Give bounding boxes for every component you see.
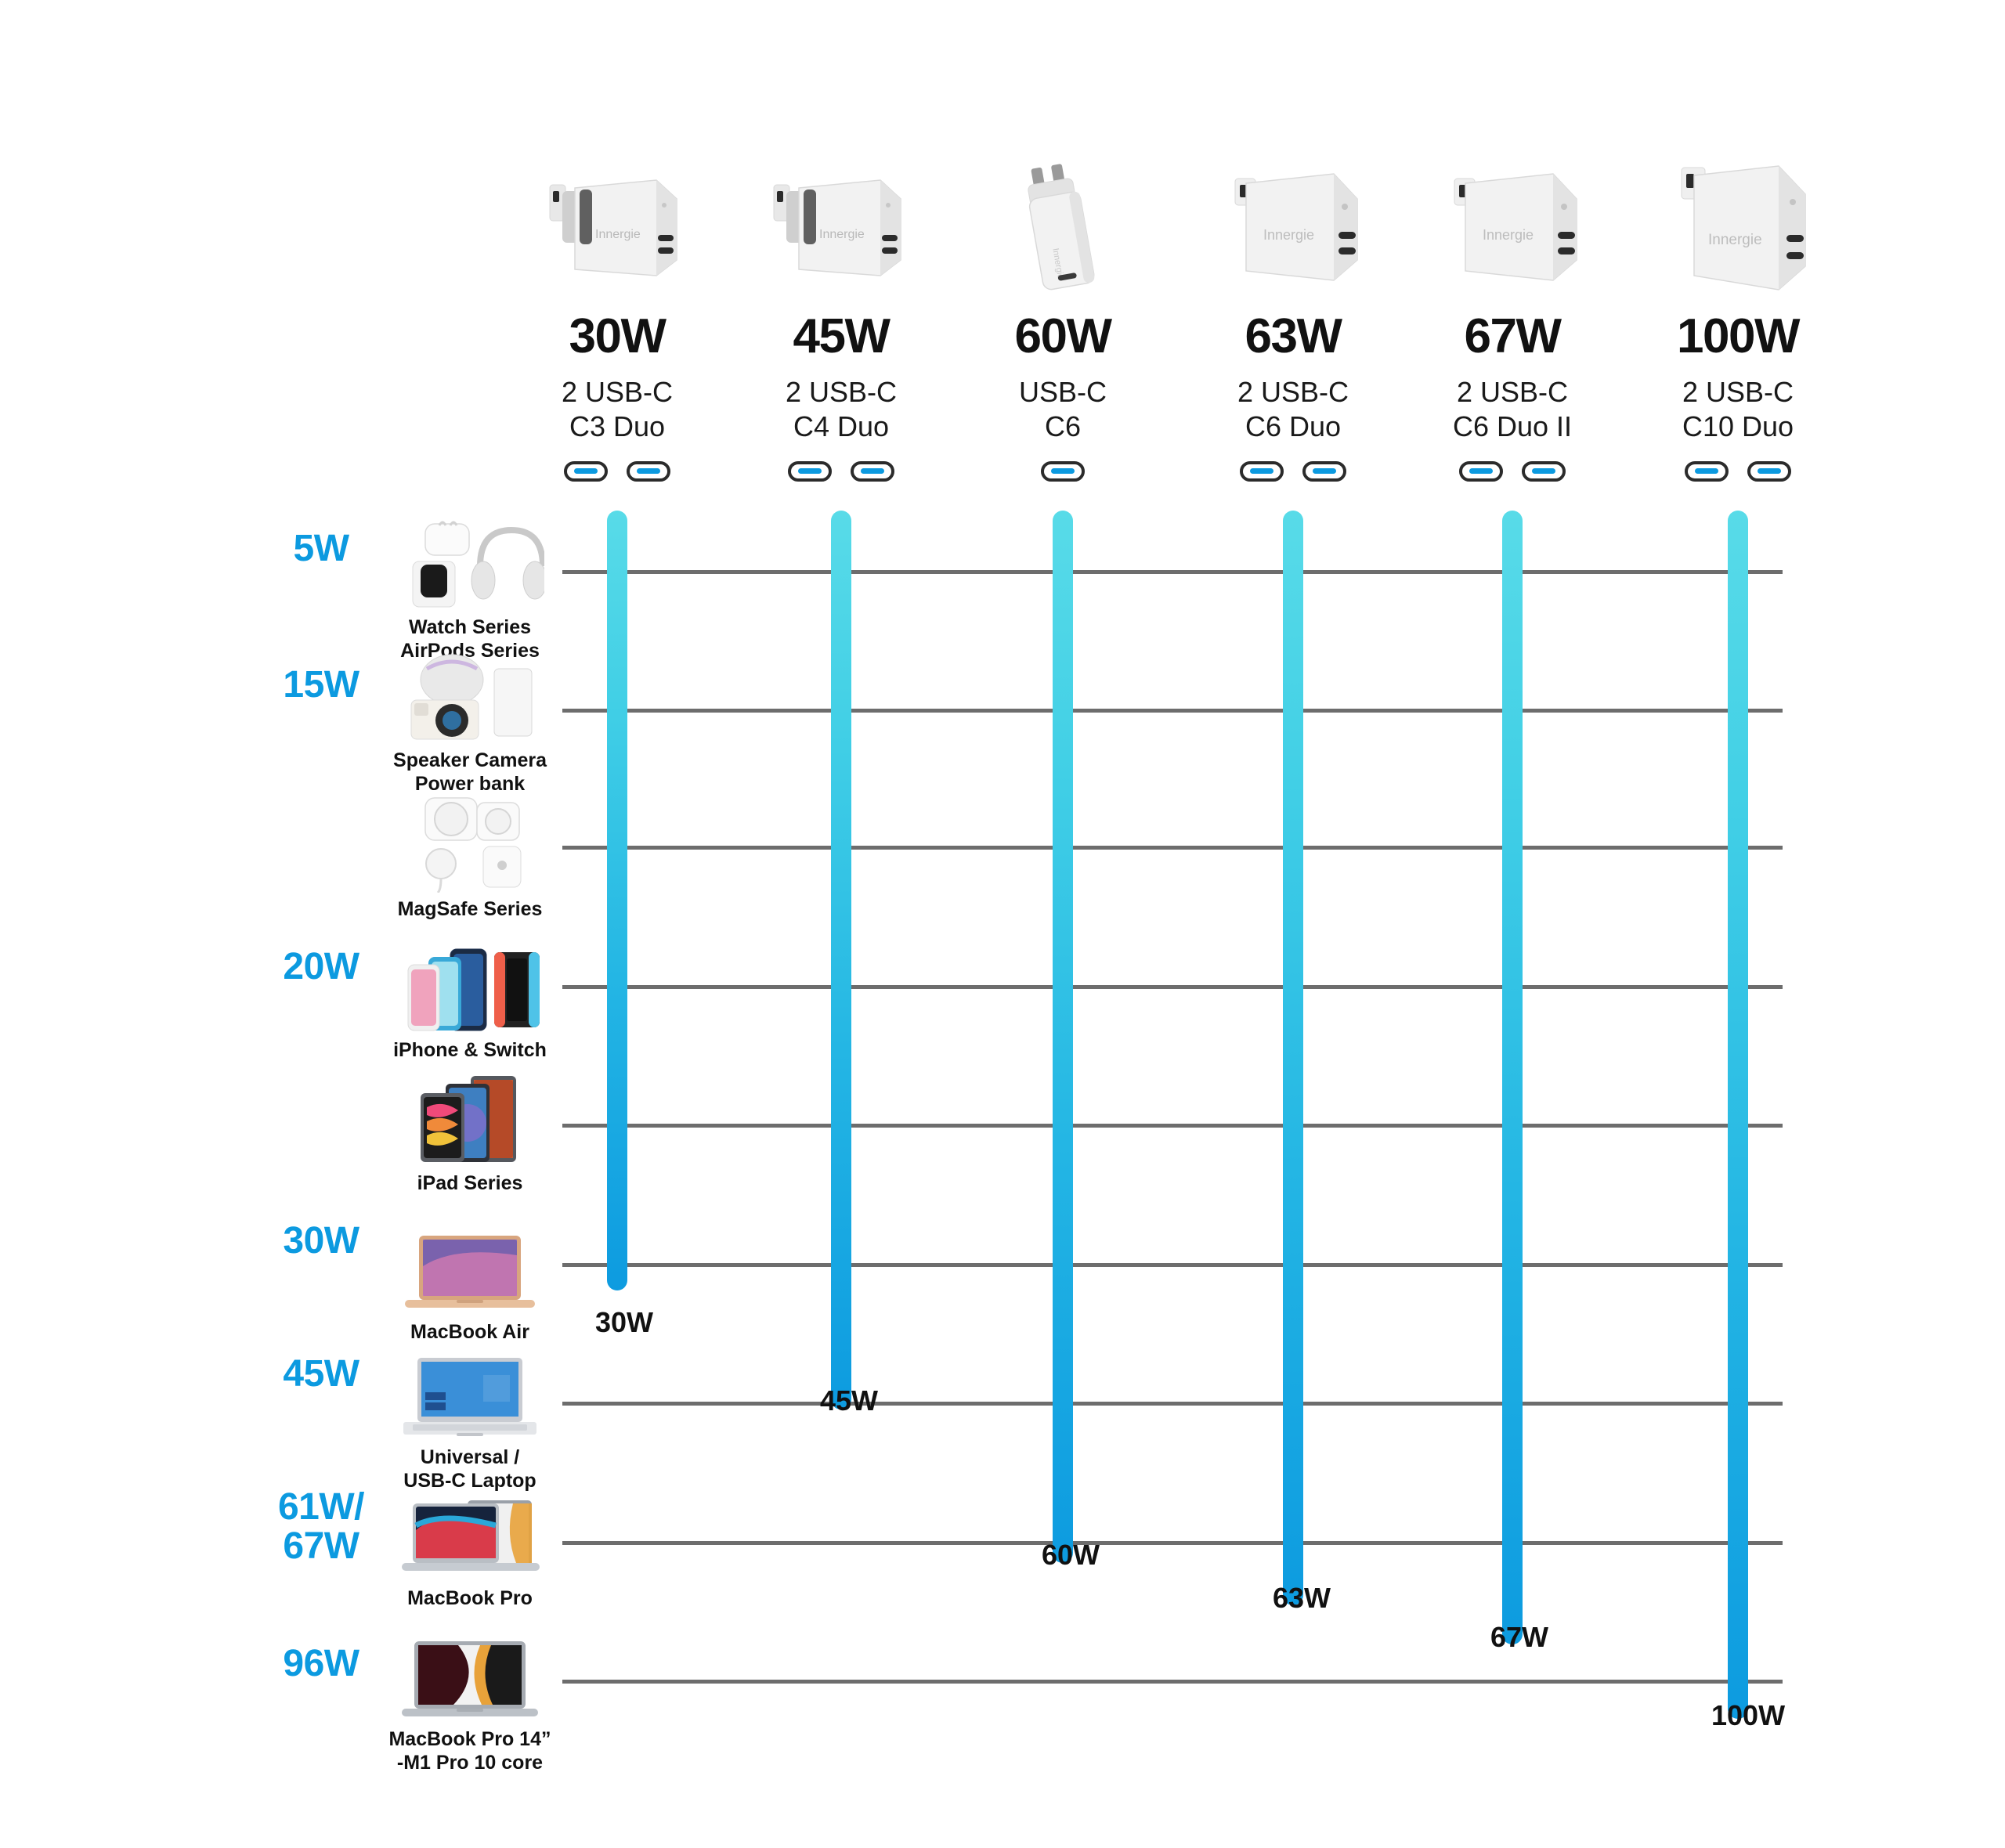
usb-c-port-icon xyxy=(1302,461,1346,482)
charger-port-icons xyxy=(1176,461,1411,482)
charger-c6-duo-ii-icon: Innergie xyxy=(1395,153,1630,301)
power-bar xyxy=(1728,511,1748,1719)
device-row: Watch Series AirPods Series xyxy=(368,517,572,662)
usb-c-port-icon xyxy=(851,461,894,482)
device-label: Speaker Camera Power bank xyxy=(368,749,572,796)
gridline xyxy=(562,1541,1783,1545)
usb-c-port-icon xyxy=(1522,461,1566,482)
device-row: MacBook Air xyxy=(368,1222,572,1344)
gridline xyxy=(562,709,1783,713)
charger-model: C6 Duo xyxy=(1176,410,1411,444)
usb-c-port-icon xyxy=(1459,461,1503,482)
charger-column-c3-duo[interactable]: Innergie 30W 2 USB-C C3 Duo xyxy=(500,153,735,482)
gridline xyxy=(562,1402,1783,1406)
gridline xyxy=(562,985,1783,989)
charger-model: C4 Duo xyxy=(724,410,959,444)
device-label: MacBook Air xyxy=(368,1320,572,1344)
charger-column-c10-duo[interactable]: Innergie 100W 2 USB-C C10 Duo xyxy=(1620,153,1855,482)
macbook-pro-14-icon xyxy=(368,1629,572,1723)
device-label: iPad Series xyxy=(368,1171,572,1195)
bar-value-label: 100W xyxy=(1711,1699,1785,1732)
bar-value-label: 67W xyxy=(1490,1621,1548,1654)
bar-value-label: 30W xyxy=(595,1306,653,1339)
watch-airpods-icon xyxy=(368,517,572,611)
usb-c-port-icon xyxy=(1747,461,1791,482)
gridline xyxy=(562,1263,1783,1267)
usb-c-port-icon xyxy=(788,461,832,482)
charger-column-c6-duo[interactable]: Innergie 63W 2 USB-C C6 Duo xyxy=(1176,153,1411,482)
usb-c-port-icon xyxy=(564,461,608,482)
charger-wattage: 63W xyxy=(1176,312,1411,361)
charger-c6-duo-icon: Innergie xyxy=(1176,153,1411,301)
gridline xyxy=(562,1124,1783,1128)
usb-c-port-icon xyxy=(1041,461,1085,482)
charger-c3-duo-icon: Innergie xyxy=(500,153,735,301)
device-label: MacBook Pro 14” -M1 Pro 10 core xyxy=(368,1727,572,1774)
device-row: iPad Series xyxy=(368,1073,572,1195)
device-label: MagSafe Series xyxy=(368,897,572,921)
device-row: MagSafe Series xyxy=(368,799,572,921)
charger-c4-duo-icon: Innergie xyxy=(724,153,959,301)
device-row: MacBook Pro xyxy=(368,1488,572,1610)
device-label: iPhone & Switch xyxy=(368,1038,572,1062)
charger-port-count: USB-C xyxy=(945,375,1180,410)
charger-model: C10 Duo xyxy=(1620,410,1855,444)
svg-text:Innergie: Innergie xyxy=(595,228,641,241)
gridline xyxy=(562,570,1783,574)
device-row: Speaker Camera Power bank xyxy=(368,650,572,796)
charger-port-icons xyxy=(1395,461,1630,482)
iphone-switch-icon xyxy=(368,940,572,1034)
bar-value-label: 60W xyxy=(1042,1539,1100,1572)
charger-port-icons xyxy=(724,461,959,482)
gridline xyxy=(562,1680,1783,1684)
charger-port-icons xyxy=(945,461,1180,482)
usb-c-port-icon xyxy=(627,461,670,482)
power-bar xyxy=(831,511,851,1409)
charger-c6-icon: Innergie xyxy=(945,153,1180,301)
charger-c10-duo-icon: Innergie xyxy=(1620,153,1855,301)
device-label: Universal / USB-C Laptop xyxy=(368,1446,572,1492)
charger-wattage: 100W xyxy=(1620,312,1855,361)
charger-wattage: 30W xyxy=(500,312,735,361)
usb-c-port-icon xyxy=(1240,461,1284,482)
power-comparison-chart: Innergie 30W 2 USB-C C3 Duo Innergie 45W… xyxy=(0,0,2005,1848)
ipad-icon xyxy=(368,1073,572,1167)
charger-port-count: 2 USB-C xyxy=(1176,375,1411,410)
macbook-pro-icon xyxy=(368,1488,572,1582)
charger-port-count: 2 USB-C xyxy=(500,375,735,410)
charger-port-icons xyxy=(1620,461,1855,482)
device-row: iPhone & Switch xyxy=(368,940,572,1062)
macbook-air-icon xyxy=(368,1222,572,1316)
usbc-laptop-icon xyxy=(368,1347,572,1441)
power-bar xyxy=(607,511,627,1290)
charger-model: C6 xyxy=(945,410,1180,444)
speaker-camera-powerbank-icon xyxy=(368,650,572,744)
charger-model: C3 Duo xyxy=(500,410,735,444)
bar-value-label: 45W xyxy=(820,1384,878,1417)
charger-column-c6[interactable]: Innergie 60W USB-C C6 xyxy=(945,153,1180,482)
charger-wattage: 67W xyxy=(1395,312,1630,361)
charger-model: C6 Duo II xyxy=(1395,410,1630,444)
device-label: MacBook Pro xyxy=(368,1586,572,1610)
power-bar xyxy=(1053,511,1073,1563)
charger-port-icons xyxy=(500,461,735,482)
gridline xyxy=(562,846,1783,850)
magsafe-icon xyxy=(368,799,572,893)
charger-wattage: 45W xyxy=(724,312,959,361)
svg-text:Innergie: Innergie xyxy=(1483,227,1534,243)
power-bar xyxy=(1502,511,1523,1644)
charger-column-c4-duo[interactable]: Innergie 45W 2 USB-C C4 Duo xyxy=(724,153,959,482)
bar-value-label: 63W xyxy=(1273,1582,1331,1615)
charger-column-c6-duo-ii[interactable]: Innergie 67W 2 USB-C C6 Duo II xyxy=(1395,153,1630,482)
svg-text:Innergie: Innergie xyxy=(1708,232,1762,248)
usb-c-port-icon xyxy=(1685,461,1729,482)
device-row: Universal / USB-C Laptop xyxy=(368,1347,572,1492)
charger-port-count: 2 USB-C xyxy=(1620,375,1855,410)
charger-port-count: 2 USB-C xyxy=(1395,375,1630,410)
charger-wattage: 60W xyxy=(945,312,1180,361)
svg-text:Innergie: Innergie xyxy=(1263,227,1314,243)
charger-port-count: 2 USB-C xyxy=(724,375,959,410)
power-bar xyxy=(1283,511,1303,1605)
svg-text:Innergie: Innergie xyxy=(819,228,865,241)
device-row: MacBook Pro 14” -M1 Pro 10 core xyxy=(368,1629,572,1774)
